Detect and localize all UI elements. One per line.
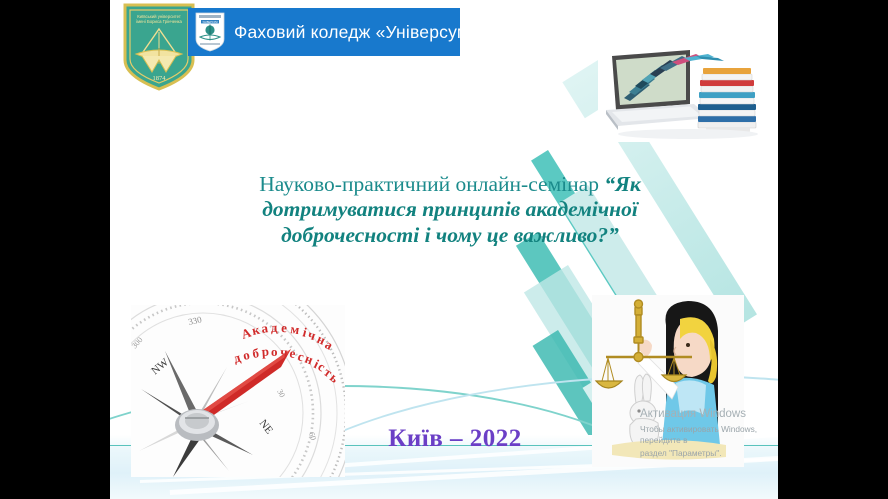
college-banner: УНІВЕРСУМ Фаховий коледж «Універсум»	[188, 8, 460, 56]
svg-text:ч: ч	[280, 344, 289, 360]
university-emblem: Київський університет імені Бориса Грінч…	[122, 2, 196, 92]
title-line-2: дотримуватися принципів академічної	[170, 197, 730, 222]
title-line-3: доброчесності і чому це важливо?”	[170, 223, 730, 248]
svg-text:е: е	[281, 320, 288, 335]
screenshot-root: Київський університет імені Бориса Грінч…	[0, 0, 888, 499]
emblem-top-line2: імені Бориса Грінченка	[136, 19, 182, 24]
presentation-slide: Київський університет імені Бориса Грінч…	[110, 0, 778, 499]
svg-text:о: о	[271, 344, 278, 359]
title-line-1-italic: “Як	[604, 172, 640, 196]
academic-integrity-compass-image: 330 300 30 60 NW NE	[131, 305, 345, 477]
college-banner-text: Фаховий коледж «Універсум»	[234, 22, 479, 43]
svg-text:д: д	[270, 320, 278, 335]
title-line-1-regular: Науково-практичний онлайн-семінар	[259, 172, 604, 196]
seminar-title: Науково-практичний онлайн-семінар “Як до…	[170, 172, 730, 248]
place-year-label: Київ – 2022	[345, 425, 565, 453]
justice-scales-girl-image	[592, 295, 744, 467]
laptop-books-image	[598, 42, 776, 142]
svg-text:р: р	[261, 344, 269, 359]
svg-text:УНІВЕРСУМ: УНІВЕРСУМ	[203, 20, 218, 24]
universum-logo-icon: УНІВЕРСУМ	[194, 11, 226, 53]
emblem-year: 1874	[153, 75, 167, 82]
title-line-1: Науково-практичний онлайн-семінар “Як	[170, 172, 730, 197]
